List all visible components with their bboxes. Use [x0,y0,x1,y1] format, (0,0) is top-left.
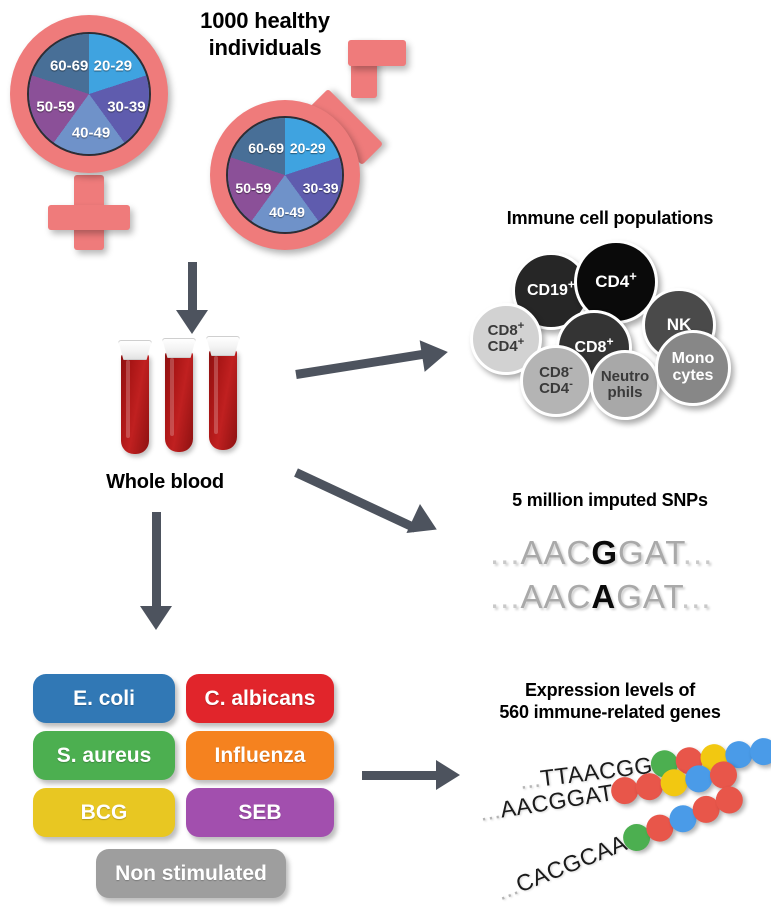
snp-sequence-row: ...AACGGAT... [490,534,713,572]
snp-sequence-row: ...AACAGAT... [490,578,711,616]
female-age-pie: 20-2930-3940-4950-5960-69 [27,32,151,156]
whole-blood-label: Whole blood [75,470,255,494]
immune-cell-label: Monocytes [672,351,715,384]
stimulus-c-albicans[interactable]: C. albicans [186,674,334,723]
stimulus-label: SEB [238,801,281,825]
immune-cell-neutrophils[interactable]: Neutrophils [590,350,660,420]
immune-cell-label: CD19+ [527,283,575,300]
snp-panel-title: 5 million imputed SNPs [460,490,760,512]
stimulus-s-aureus[interactable]: S. aureus [33,731,175,780]
female-stem-cross [48,205,130,230]
expression-bead [634,771,665,802]
stimulus-label: S. aureus [57,744,152,768]
immune-cell-label: CD8+CD4+ [488,323,525,354]
stimulus-label: BCG [81,801,128,825]
expression-panel-title: Expression levels of 560 immune-related … [455,680,765,724]
pie-slice-60-69 [228,118,342,232]
immune-cell-cd8negcd4neg[interactable]: CD8-CD4- [520,345,592,417]
stimulus-label: C. albicans [205,687,316,711]
male-age-pie: 20-2930-3940-4950-5960-69 [226,116,344,234]
immune-cell-label: CD8-CD4- [539,365,573,396]
stimulus-influenza[interactable]: Influenza [186,731,334,780]
stimulus-label: E. coli [73,687,135,711]
stimulus-non-stimulated[interactable]: Non stimulated [96,849,286,898]
immune-panel-title: Immune cell populations [460,208,760,230]
stimulus-label: Influenza [214,744,305,768]
stimulus-e-coli[interactable]: E. coli [33,674,175,723]
immune-cell-monocytes[interactable]: Monocytes [655,330,731,406]
page-title: 1000 healthy individuals [160,8,370,62]
expression-bead [748,737,771,767]
male-arrow-head-side [348,40,406,66]
stimulus-seb[interactable]: SEB [186,788,334,837]
figure-canvas: 1000 healthy individuals 20-2930-3940-49… [0,0,771,922]
pie-label-60-69: 60-69 [50,57,88,74]
immune-cell-label: CD4+ [595,273,637,291]
pie-label-60-69: 60-69 [248,140,284,156]
immune-cell-label: Neutrophils [601,369,649,400]
stimulus-bcg[interactable]: BCG [33,788,175,837]
stimulus-label: Non stimulated [115,862,267,886]
pie-slice-60-69 [29,34,149,154]
expression-sequence-text: ...CACGCAA [493,829,631,906]
